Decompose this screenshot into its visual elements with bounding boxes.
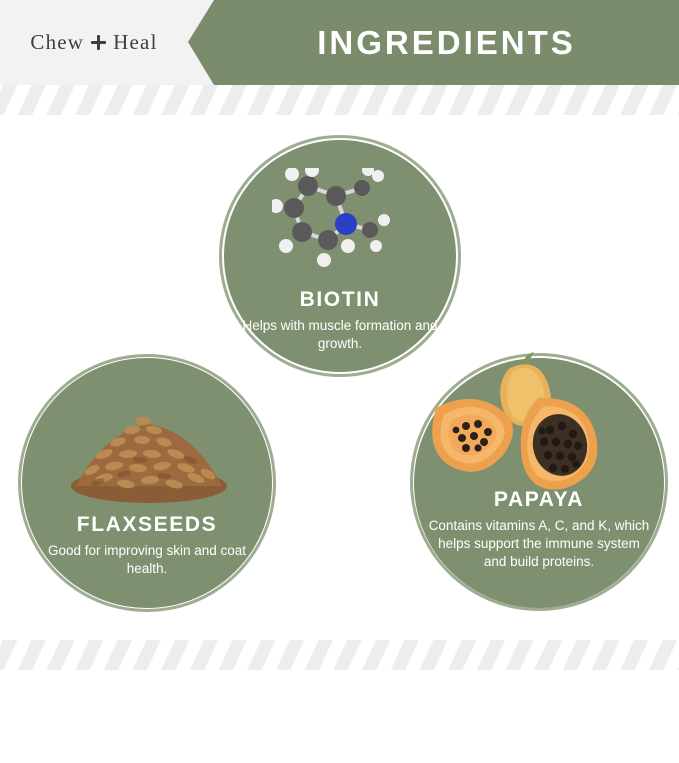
brand-logo-text: Chew Heal <box>30 30 157 55</box>
ingredient-description-flaxseeds: Good for improving skin and coat health. <box>22 542 272 578</box>
ingredient-title-flaxseeds: FLAXSEEDS <box>77 513 217 537</box>
ingredient-title-biotin: BIOTIN <box>300 288 381 312</box>
ingredient-text-flaxseeds: FLAXSEEDS Good for improving skin and co… <box>22 358 272 763</box>
ingredient-text-papaya: PAPAYA Contains vitamins A, C, and K, wh… <box>414 358 664 738</box>
page-title: INGREDIENTS <box>214 0 679 85</box>
ingredient-description-papaya: Contains vitamins A, C, and K, which hel… <box>414 517 664 572</box>
stripe-pattern <box>0 640 679 670</box>
ingredient-title-papaya: PAPAYA <box>494 488 584 512</box>
logo-notch-shape <box>188 0 214 85</box>
stripe-pattern <box>0 85 679 115</box>
page-header: Chew Heal INGREDIENTS <box>0 0 679 85</box>
brand-name-left: Chew <box>30 30 84 55</box>
stripe-band-top <box>0 85 679 115</box>
plus-cross-icon <box>91 35 106 50</box>
ingredient-description-biotin: Helps with muscle formation and growth. <box>224 317 456 353</box>
brand-logo: Chew Heal <box>0 0 188 85</box>
brand-name-right: Heal <box>113 30 157 55</box>
stripe-band-bottom <box>0 640 679 670</box>
